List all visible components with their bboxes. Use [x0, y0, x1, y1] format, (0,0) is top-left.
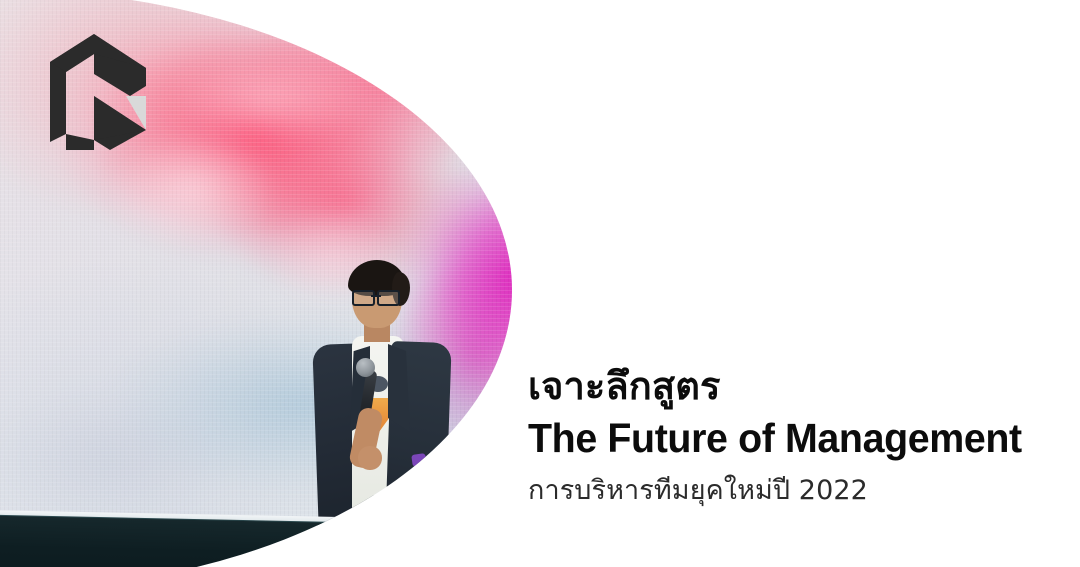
hand	[358, 446, 382, 470]
banner-copy: เจาะลึกสูตร The Future of Management การ…	[528, 364, 1048, 508]
headline-thai: เจาะลึกสูตร	[528, 364, 1048, 409]
presentation-banner: เจาะลึกสูตร The Future of Management การ…	[0, 0, 1080, 567]
presenter-figure	[296, 258, 466, 558]
stage-floor	[0, 516, 601, 567]
subtitle-thai: การบริหารทีมยุคใหม่ปี 2022	[528, 473, 1048, 508]
angular-g-logo-icon	[50, 34, 150, 150]
wristwatch	[411, 453, 427, 467]
eyeglasses-bridge	[371, 295, 381, 297]
headline-english: The Future of Management	[528, 413, 1027, 463]
